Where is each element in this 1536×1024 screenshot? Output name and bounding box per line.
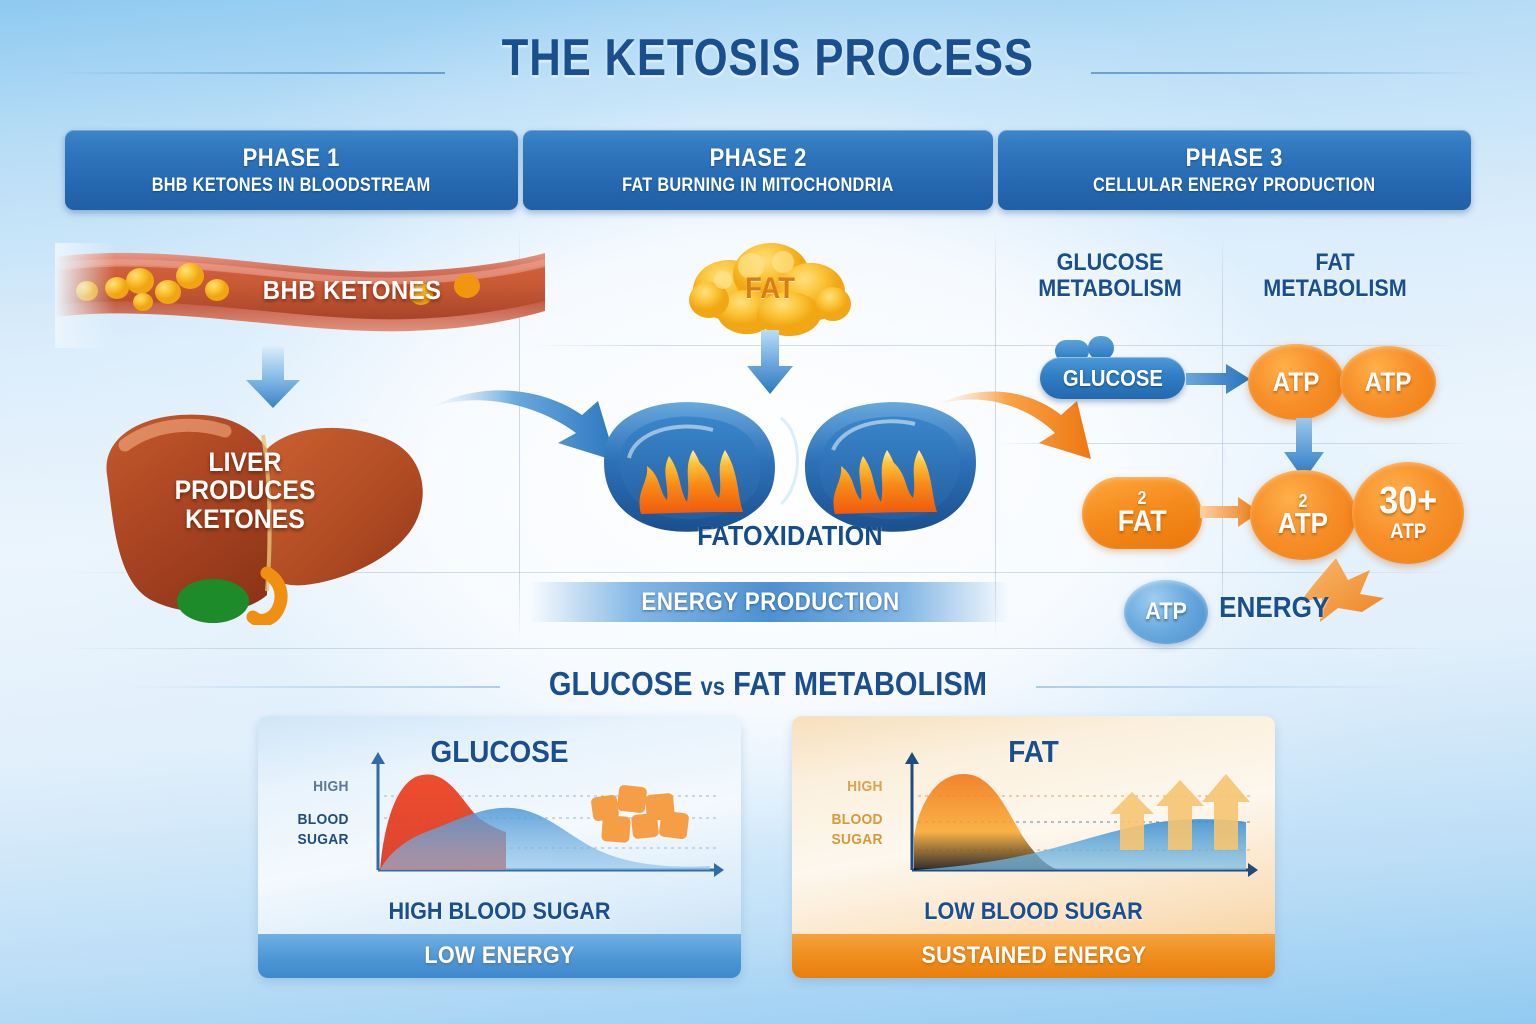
phase-header-2[interactable]: PHASE 2 FAT BURNING IN MITOCHONDRIA xyxy=(523,130,993,210)
grid-divider-3 xyxy=(1222,236,1223,636)
atp-burst-2: ATP xyxy=(1340,346,1436,418)
fat-chart-footer: SUSTAINED ENERGY xyxy=(792,934,1275,978)
phase-1-subtitle: BHB KETONES IN BLOODSTREAM xyxy=(152,175,431,197)
glucose-footer-label: LOW ENERGY xyxy=(424,942,574,970)
atp-atom-label: ATP xyxy=(1145,598,1187,626)
comparison-rule-right xyxy=(1036,686,1416,688)
phase-header-1[interactable]: PHASE 1 BHB KETONES IN BLOODSTREAM xyxy=(65,130,518,210)
atp-burst-3: 2 ATP xyxy=(1250,470,1356,560)
fat-chart-plot xyxy=(888,750,1264,902)
page-title: THE KETOSIS PROCESS xyxy=(502,28,1034,88)
energy-production-label: ENERGY PRODUCTION xyxy=(641,588,899,617)
arrow-fat-to-mitochondria-icon xyxy=(745,330,795,396)
atp-atom-icon: ATP xyxy=(1124,580,1208,644)
column-header-fat-metabolism: FAT METABOLISM xyxy=(1250,250,1421,303)
phase-3-title: PHASE 3 xyxy=(1186,144,1283,173)
fat-cloud-label: FAT xyxy=(692,272,848,306)
comparison-title: GLUCOSE vs FAT METABOLISM xyxy=(549,665,987,703)
chart-panel-fat: FAT HIGH BLOOD SUGAR xyxy=(792,716,1275,978)
fat-axis-high: HIGH xyxy=(807,778,882,795)
chart-panel-glucose: GLUCOSE HIGH BLOOD SUGAR xyxy=(258,716,741,978)
glucose-chart-caption: HIGH BLOOD SUGAR xyxy=(282,898,717,926)
atp-burst-1: ATP xyxy=(1248,344,1344,420)
glucose-chart-plot xyxy=(354,750,730,902)
atp-burst-1-label: ATP xyxy=(1273,367,1320,398)
comparison-title-vs: vs xyxy=(701,673,725,701)
glucose-chip-label: GLUCOSE xyxy=(1062,365,1162,392)
comparison-rule-left xyxy=(120,686,500,688)
comparison-title-part2: FAT METABOLISM xyxy=(733,665,987,702)
liver-label-line-3: KETONES xyxy=(158,505,333,533)
fat-axis-sugar: SUGAR xyxy=(807,831,882,848)
glucose-axis-sugar: SUGAR xyxy=(273,831,348,848)
col-fat-line-2: METABOLISM xyxy=(1250,276,1421,302)
glucose-chip[interactable]: GLUCOSE xyxy=(1040,357,1185,399)
glucose-axis-high: HIGH xyxy=(273,778,348,795)
glucose-axis-blood: BLOOD xyxy=(273,811,348,828)
fat-footer-label: SUSTAINED ENERGY xyxy=(921,942,1146,970)
phase-3-subtitle: CELLULAR ENERGY PRODUCTION xyxy=(1093,175,1375,197)
liver-label-line-2: PRODUCES xyxy=(158,476,333,504)
energy-production-banner: ENERGY PRODUCTION xyxy=(530,582,1010,622)
col-glucose-line-1: GLUCOSE xyxy=(1029,250,1191,276)
phase-1-title: PHASE 1 xyxy=(243,144,340,173)
arrow-glucose-to-atp-icon xyxy=(1186,362,1252,396)
atp-30-value: 30+ xyxy=(1379,482,1437,520)
comparison-title-wrap: GLUCOSE vs FAT METABOLISM xyxy=(0,665,1536,703)
col-fat-line-1: FAT xyxy=(1250,250,1421,276)
liver-label-line-1: LIVER xyxy=(158,448,333,476)
grid-line-h1 xyxy=(530,345,1460,346)
glucose-chart-footer: LOW ENERGY xyxy=(258,934,741,978)
fat-molecule-blob: 2 FAT xyxy=(1082,477,1202,549)
atp-burst-2-label: ATP xyxy=(1365,367,1412,398)
infographic-canvas: THE KETOSIS PROCESS PHASE 1 BHB KETONES … xyxy=(0,0,1536,1024)
col-glucose-line-2: METABOLISM xyxy=(1029,276,1191,302)
fat-oxidation-label: FATOXIDATION xyxy=(615,520,966,552)
phase-header-3[interactable]: PHASE 3 CELLULAR ENERGY PRODUCTION xyxy=(998,130,1471,210)
atp-burst-30plus: 30+ ATP xyxy=(1352,462,1464,564)
column-header-glucose-metabolism: GLUCOSE METABOLISM xyxy=(1029,250,1191,303)
grid-line-h4 xyxy=(60,648,1460,649)
title-rule-right xyxy=(1091,72,1481,74)
bhb-ketones-label: BHB KETONES xyxy=(263,275,442,306)
arrow-down-to-liver-icon xyxy=(240,346,306,410)
fat-axis-blood: BLOOD xyxy=(807,811,882,828)
phase-2-subtitle: FAT BURNING IN MITOCHONDRIA xyxy=(622,175,893,197)
atp-30-unit: ATP xyxy=(1390,520,1426,543)
fat-chart-caption: LOW BLOOD SUGAR xyxy=(816,898,1251,926)
atp-burst-3-label: ATP xyxy=(1278,510,1328,539)
fat-blob-label: FAT xyxy=(1118,507,1167,537)
comparison-title-part1: GLUCOSE xyxy=(549,665,693,702)
arrow-mitochondria-to-energy-icon xyxy=(935,385,1095,485)
page-title-wrap: THE KETOSIS PROCESS xyxy=(0,28,1536,88)
phase-2-title: PHASE 2 xyxy=(709,144,806,173)
liver-produces-ketones-label: LIVER PRODUCES KETONES xyxy=(158,448,333,533)
atp-energy-label: ENERGY xyxy=(1219,592,1329,625)
title-rule-left xyxy=(55,72,445,74)
